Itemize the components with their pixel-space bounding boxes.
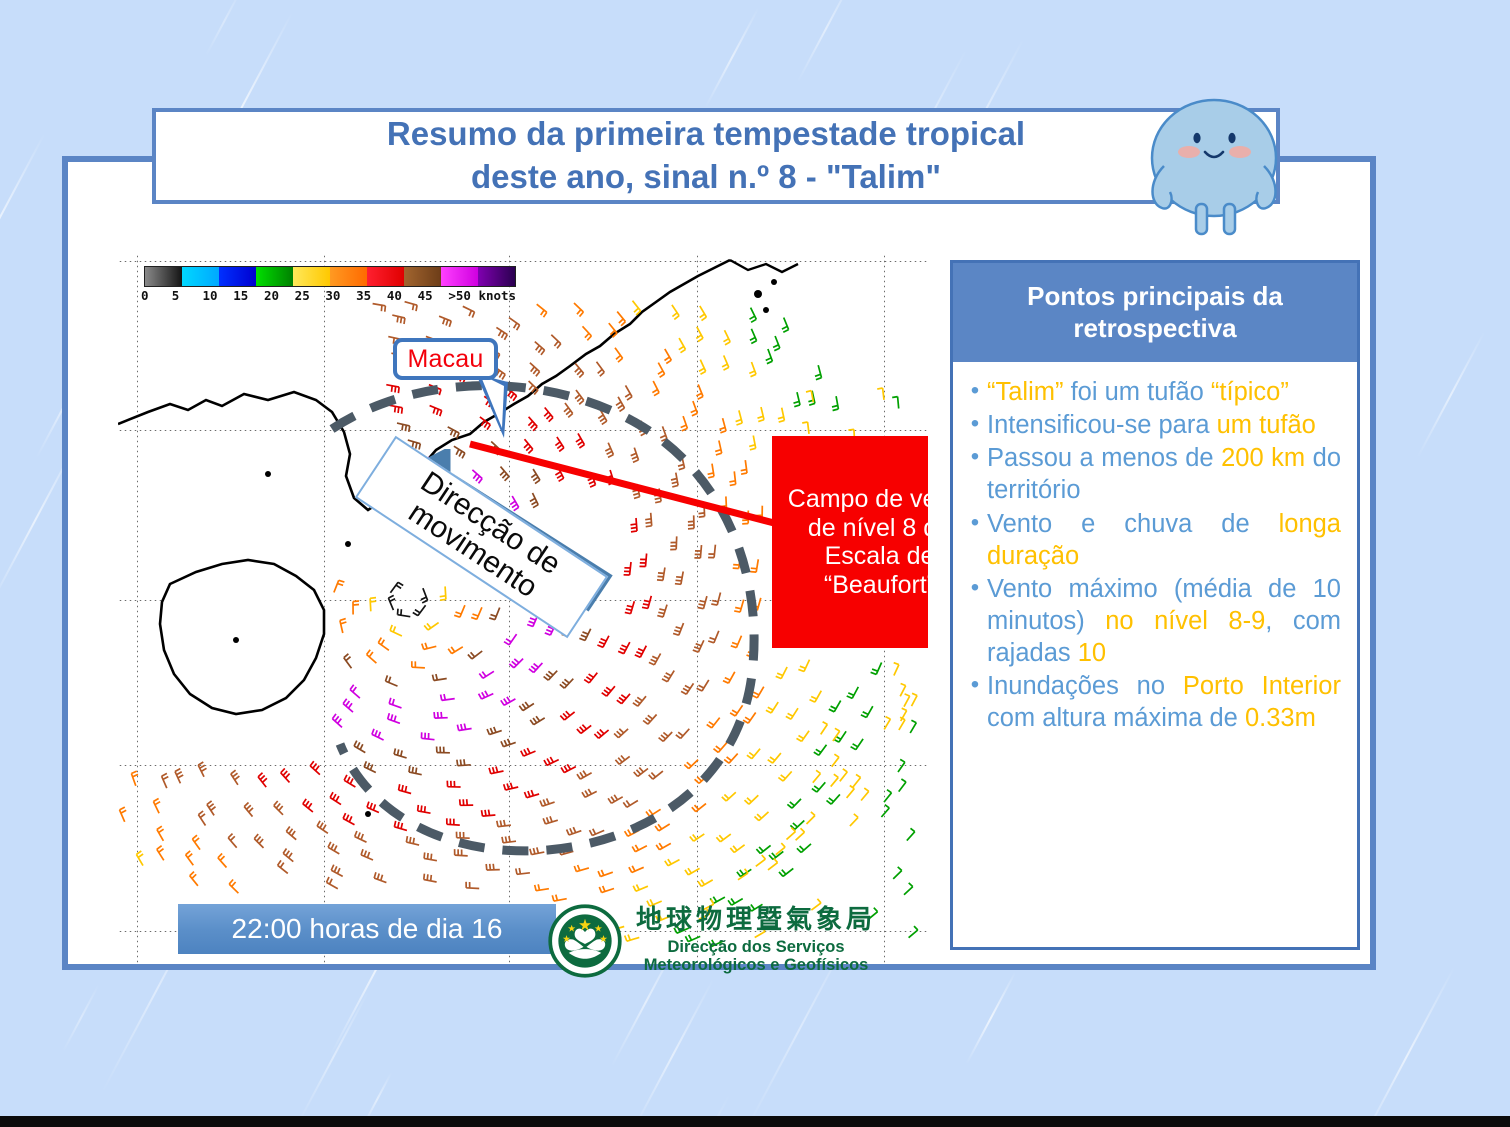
slide-card: 051015202530354045>50 knots Macau Campo … (62, 156, 1376, 970)
colorscale-segment (478, 267, 515, 286)
title-line2: deste ano, sinal n.º 8 - "Talim" (471, 158, 941, 195)
colorscale-unit-label: >50 knots (448, 288, 516, 303)
key-point-item: •Passou a menos de 200 km do território (963, 442, 1341, 506)
key-point-highlight: 200 km (1221, 444, 1305, 472)
key-point-text: Passou a menos de 200 km do território (987, 442, 1341, 506)
key-point-plain: Vento e chuva de (987, 510, 1279, 538)
water-droplet-mascot-icon (1142, 96, 1292, 241)
colorscale-tick: 25 (295, 288, 329, 303)
title-banner: Resumo da primeira tempestade tropical d… (152, 108, 1280, 204)
logo-portuguese-line2: Meteorológicos e Geofísicos (644, 956, 869, 974)
bottom-black-bar (0, 1116, 1510, 1127)
colorscale-tick: 0 (141, 288, 175, 303)
colorscale-segment (441, 267, 478, 286)
key-points-panel-header: Pontos principais da retrospectiva (953, 263, 1357, 362)
colorscale-labels: 051015202530354045>50 knots (144, 288, 516, 303)
bullet-dot-icon: • (963, 508, 987, 538)
macau-label: Macau (407, 345, 483, 374)
colorscale-tick: 10 (202, 288, 236, 303)
beaufort-annotation-box: Campo de vento de nível 8 da Escala de “… (772, 436, 928, 648)
key-point-plain: Passou a menos de (987, 444, 1221, 472)
bullet-dot-icon: • (963, 670, 987, 700)
key-point-item: •Vento e chuva de longa duração (963, 508, 1341, 572)
timestamp-badge: 22:00 horas de dia 16 (178, 904, 556, 954)
key-point-highlight: “Talim” (987, 378, 1071, 406)
bullet-dot-icon: • (963, 442, 987, 472)
key-point-plain: foi um tufão (1071, 378, 1211, 406)
wind-speed-colorscale: 051015202530354045>50 knots (144, 266, 516, 303)
colorscale-segment (182, 267, 219, 286)
key-point-plain: Inundações no (987, 672, 1183, 700)
colorscale-segment (256, 267, 293, 286)
key-point-text: Vento máximo (média de 10 minutos) no ní… (987, 573, 1341, 669)
title-line1: Resumo da primeira tempestade tropical (387, 115, 1025, 152)
timestamp-text: 22:00 horas de dia 16 (232, 913, 503, 945)
key-point-plain: com altura máxima de (987, 704, 1245, 732)
key-point-highlight: no nível 8-9 (1105, 607, 1265, 635)
key-point-highlight: “típico” (1211, 378, 1289, 406)
key-point-item: •Inundações no Porto Interior com altura… (963, 670, 1341, 734)
logo-portuguese-line1: Direcção dos Serviços (668, 938, 845, 956)
logo-chinese-text: 地球物理暨氣象局 (636, 907, 876, 934)
panel-header-line1: Pontos principais da (1027, 281, 1283, 311)
macau-smg-emblem-icon (548, 904, 622, 978)
colorscale-segment (145, 267, 182, 286)
key-point-text: “Talim” foi um tufão “típico” (987, 376, 1341, 408)
key-point-item: •Vento máximo (média de 10 minutos) no n… (963, 573, 1341, 669)
bullet-dot-icon: • (963, 573, 987, 603)
key-points-list: • “Talim” foi um tufão “típico”•Intensif… (953, 362, 1357, 743)
macau-callout-tail (474, 372, 514, 446)
smg-logo-block: 地球物理暨氣象局 Direcção dos Serviços Meteoroló… (548, 904, 876, 978)
colorscale-tick: 15 (233, 288, 267, 303)
colorscale-tick: 20 (264, 288, 298, 303)
colorscale-segment (219, 267, 256, 286)
key-point-highlight: Porto Interior (1183, 672, 1341, 700)
key-point-item: •Intensificou-se para um tufão (963, 409, 1341, 441)
colorscale-bar (144, 266, 516, 287)
key-point-text: Intensificou-se para um tufão (987, 409, 1341, 441)
wind-field-map: 051015202530354045>50 knots Macau Campo … (118, 254, 928, 964)
macau-callout: Macau (393, 338, 498, 380)
beaufort-annotation-text: Campo de vento de nível 8 da Escala de “… (772, 485, 928, 599)
colorscale-segment (330, 267, 367, 286)
colorscale-tick: 35 (356, 288, 390, 303)
key-point-highlight: 10 (1078, 639, 1106, 667)
colorscale-tick: 30 (325, 288, 359, 303)
colorscale-tick: 40 (387, 288, 421, 303)
key-point-text: Vento e chuva de longa duração (987, 508, 1341, 572)
key-point-plain: Intensificou-se para (987, 411, 1217, 439)
colorscale-segment (293, 267, 330, 286)
colorscale-tick: 5 (172, 288, 206, 303)
bullet-dot-icon: • (963, 409, 987, 439)
colorscale-segment (404, 267, 441, 286)
key-point-highlight: um tufão (1217, 411, 1316, 439)
key-point-text: Inundações no Porto Interior com altura … (987, 670, 1341, 734)
key-point-item: • “Talim” foi um tufão “típico” (963, 376, 1341, 408)
bullet-dot-icon: • (963, 376, 987, 406)
colorscale-tick: 45 (418, 288, 452, 303)
colorscale-segment (367, 267, 404, 286)
panel-header-line2: retrospectiva (1073, 313, 1236, 343)
key-points-panel: Pontos principais da retrospectiva • “Ta… (950, 260, 1360, 950)
key-point-highlight: 0.33m (1245, 704, 1316, 732)
